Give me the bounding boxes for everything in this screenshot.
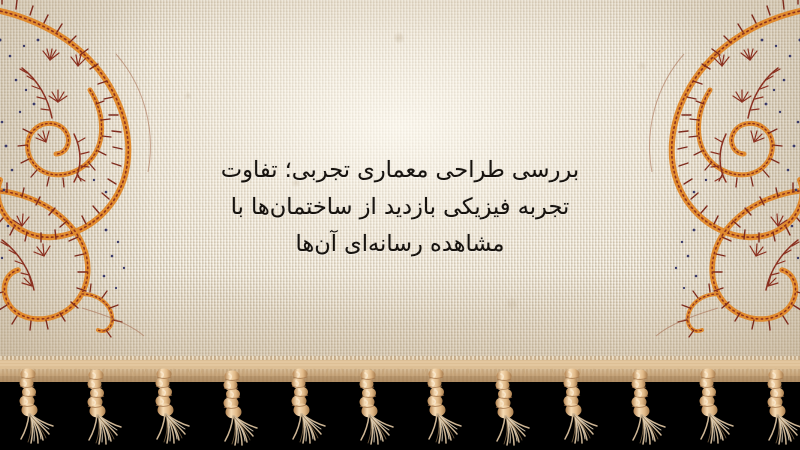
slide-canvas: بررسی طراحی معماری تجربی؛ تفاوت تجربه فی… <box>0 0 800 450</box>
title-line-1: بررسی طراحی معماری تجربی؛ تفاوت <box>176 152 624 189</box>
title-line-3: مشاهده رسانه‌ای آن‌ها <box>176 226 624 263</box>
slide-title: بررسی طراحی معماری تجربی؛ تفاوت تجربه فی… <box>176 152 624 263</box>
title-line-2: تجربه فیزیکی بازدید از ساختمان‌ها با <box>176 189 624 226</box>
